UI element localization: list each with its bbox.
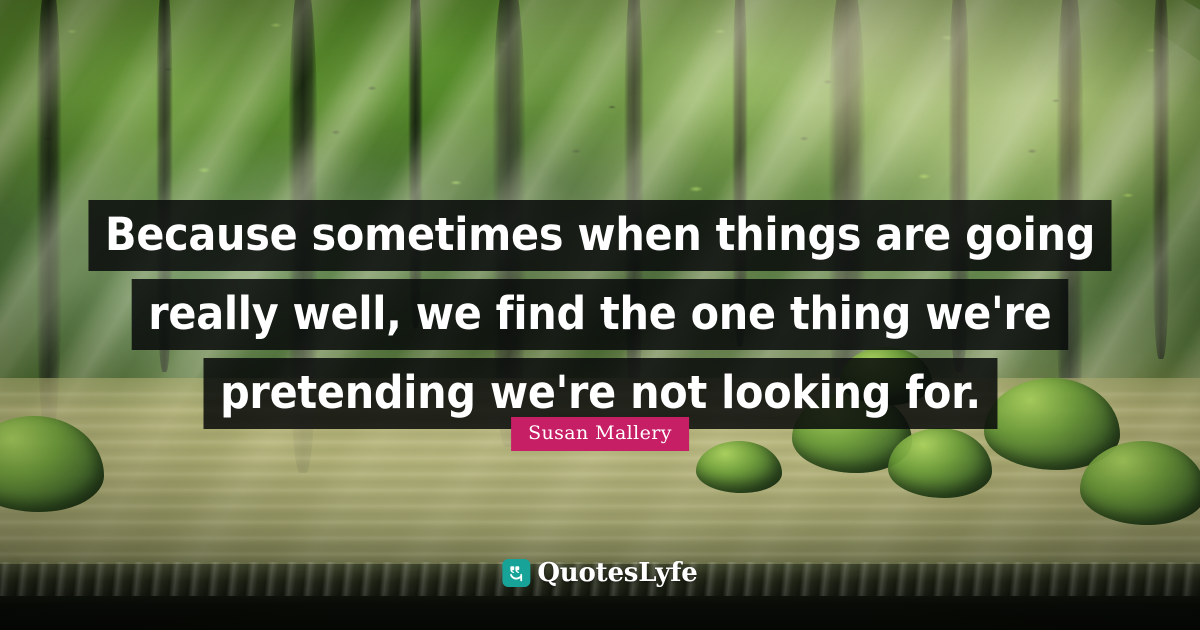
brand-logo[interactable]: QuotesLyfe — [502, 559, 697, 587]
quote-line: really well, we find the one thing we're — [132, 279, 1068, 350]
quote-card: Because sometimes when things are going … — [0, 0, 1200, 630]
quote-line: Because sometimes when things are going — [88, 200, 1111, 271]
author-badge: Susan Mallery — [511, 417, 689, 451]
quote-text-block: Because sometimes when things are going … — [0, 200, 1200, 429]
quote-mark-icon — [502, 559, 530, 587]
brand-name: QuotesLyfe — [537, 560, 697, 586]
